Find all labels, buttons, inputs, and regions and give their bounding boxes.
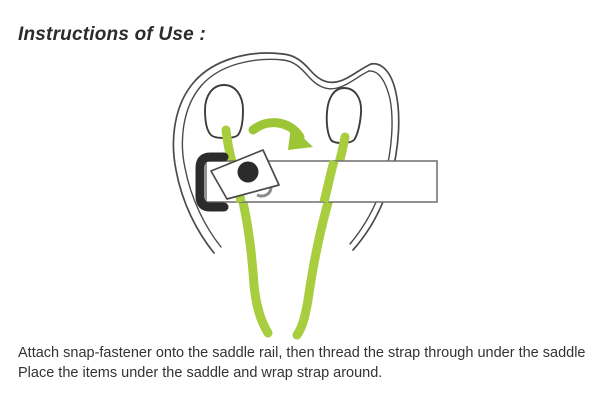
instructions-page: Instructions of Use : xyxy=(0,0,600,407)
instruction-steps: Attach snap-fastener onto the saddle rai… xyxy=(18,344,588,383)
instruction-step-2: Place the items under the saddle and wra… xyxy=(18,364,588,384)
motion-arrow-icon xyxy=(253,123,313,150)
instruction-step-1: Attach snap-fastener onto the saddle rai… xyxy=(18,344,588,364)
snap-stud-icon xyxy=(238,162,259,183)
